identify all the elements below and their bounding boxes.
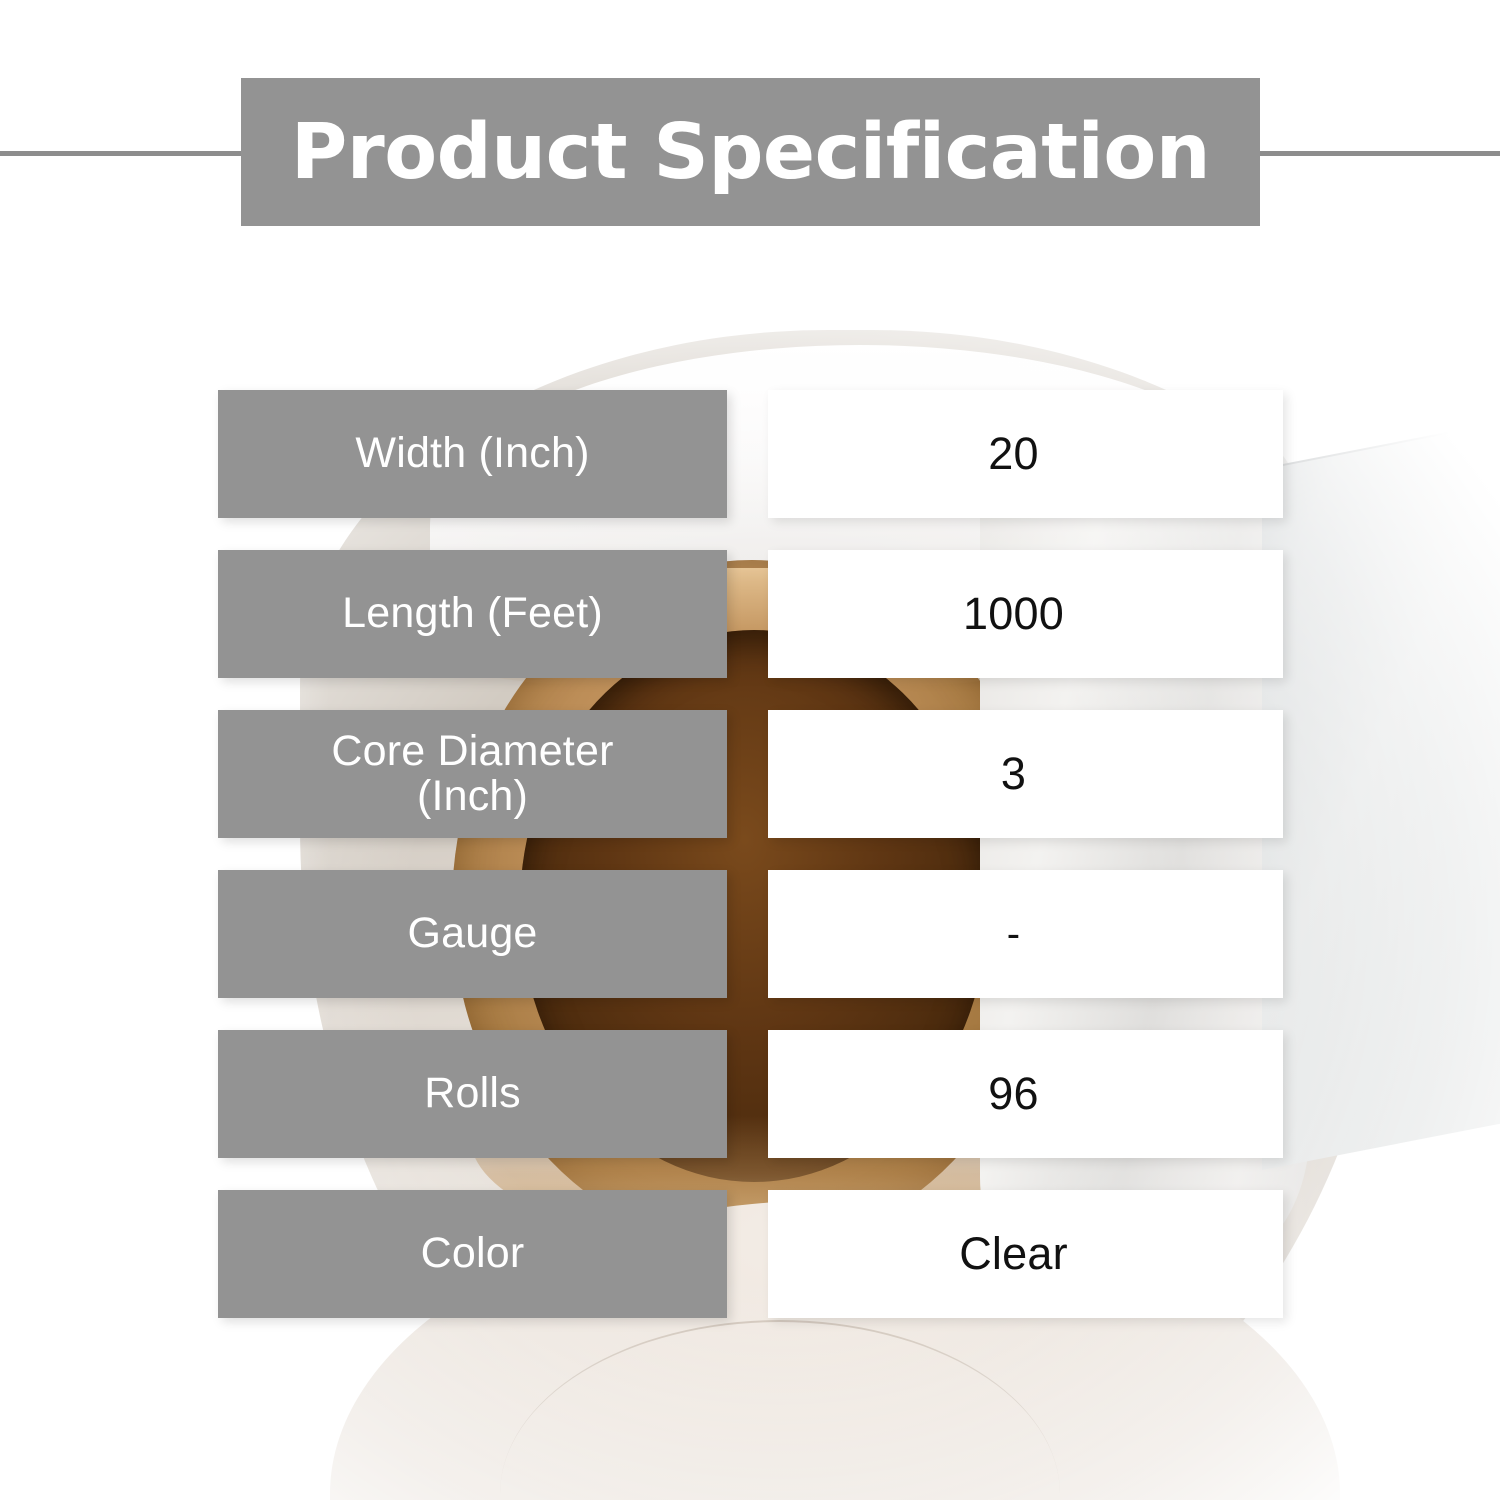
spec-value: Clear bbox=[768, 1190, 1283, 1318]
spec-row: Core Diameter (Inch)3 bbox=[0, 710, 1500, 838]
spec-label: Width (Inch) bbox=[218, 390, 727, 518]
spec-label: Rolls bbox=[218, 1030, 727, 1158]
spec-value: - bbox=[768, 870, 1283, 998]
spec-value: 3 bbox=[768, 710, 1283, 838]
spec-row: Width (Inch)20 bbox=[0, 390, 1500, 518]
spec-label: Core Diameter (Inch) bbox=[218, 710, 727, 838]
spec-value: 20 bbox=[768, 390, 1283, 518]
spec-row: Gauge- bbox=[0, 870, 1500, 998]
spec-label: Color bbox=[218, 1190, 727, 1318]
specification-table: Width (Inch)20Length (Feet)1000Core Diam… bbox=[0, 0, 1500, 1500]
spec-value: 1000 bbox=[768, 550, 1283, 678]
product-specification-page: Product Specification Width (Inch)20Leng… bbox=[0, 0, 1500, 1500]
spec-label: Length (Feet) bbox=[218, 550, 727, 678]
spec-row: ColorClear bbox=[0, 1190, 1500, 1318]
spec-label: Gauge bbox=[218, 870, 727, 998]
spec-value: 96 bbox=[768, 1030, 1283, 1158]
spec-row: Rolls96 bbox=[0, 1030, 1500, 1158]
spec-row: Length (Feet)1000 bbox=[0, 550, 1500, 678]
